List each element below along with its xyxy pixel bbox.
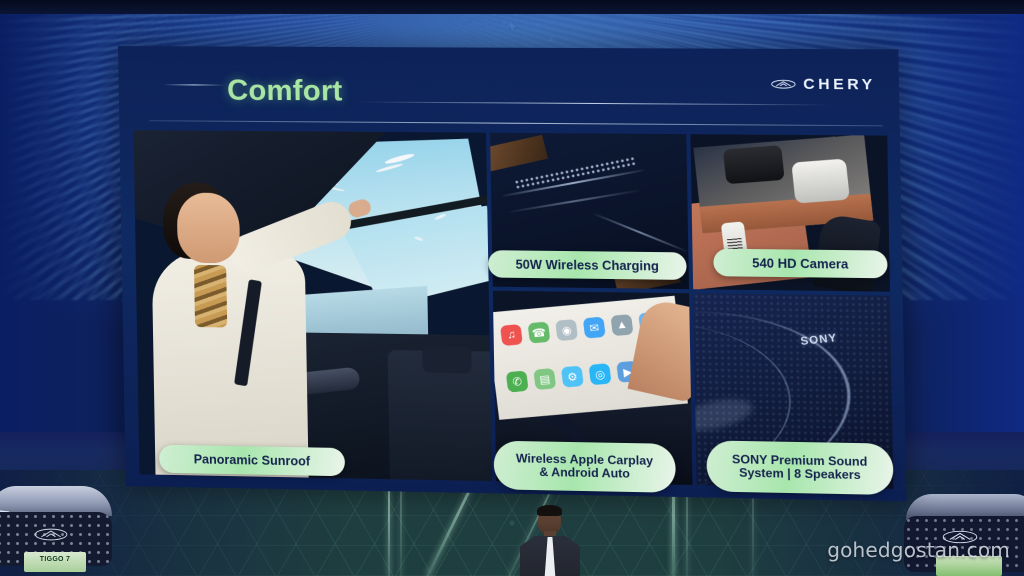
messages-app-icon[interactable]: ✉ [583,317,606,339]
title-rule-right [357,101,832,105]
presenter-on-stage [512,505,586,576]
camera-dark-vehicle [723,145,785,184]
radio-app-icon[interactable]: ◉ [555,319,578,341]
feature-label-text-multiline: SONY Premium Sound System | 8 Speakers [732,453,868,483]
site-watermark: gohedgostan.com [827,538,1010,562]
music-app-icon[interactable]: ♫ [500,324,523,346]
trim-panel [490,135,548,172]
child-face [177,193,241,264]
phone-green-app-icon[interactable]: ☎ [528,322,551,344]
ceiling-truss-bar [0,0,1024,14]
brand-lockup: CHERY [771,75,876,93]
background-left-shade [0,0,120,460]
screenshot-root: TIGGO 7 Comfort CHERY [0,0,1024,576]
feature-label-sony-sound-system: SONY Premium Sound System | 8 Speakers [706,440,893,495]
feature-label-line2: System | 8 Speakers [739,465,861,482]
feature-label-text: Panoramic Sunroof [194,452,311,468]
brand-name: CHERY [803,76,876,94]
feature-label-text: 50W Wireless Charging [515,257,659,273]
feature-label-line2: & Android Auto [539,465,630,481]
child-scarf [194,265,227,328]
chery-oval-emblem-icon [771,77,796,90]
feature-label-wireless-charging: 50W Wireless Charging [488,250,687,280]
settings-app-icon[interactable]: ⚙ [561,366,584,388]
camera-app-icon[interactable]: ◎ [589,363,612,385]
feature-label-text-multiline: Wireless Apple Carplay & Android Auto [516,452,654,482]
feature-image-grid: ♫☎◉✉▲☰ ✆▤⚙◎▶⊞ SONY 50W Wireless Charging… [133,130,893,489]
presenter-hair [537,505,562,516]
console-highlight [594,213,688,252]
feature-label-540-hd-camera: 540 HD Camera [713,249,887,279]
seat-headrest [422,346,472,373]
feature-label-text: 540 HD Camera [752,256,848,271]
navigation-app-icon[interactable]: ▲ [610,314,633,336]
feature-image-panoramic-sunroof [133,130,492,481]
files-app-icon[interactable]: ▤ [533,368,556,390]
presenter-jacket [520,536,580,576]
dialer-app-icon[interactable]: ✆ [506,370,529,392]
slide-header: Comfort CHERY [118,46,900,130]
title-rule-left [163,84,225,85]
chery-emblem-icon [34,528,68,541]
presentation-screen: Comfort CHERY [118,46,906,501]
feature-label-panoramic-sunroof: Panoramic Sunroof [159,445,345,477]
child-body [152,250,309,477]
header-divider [149,120,883,126]
stage-vehicle-right [900,494,1024,576]
camera-white-vehicle [791,159,850,204]
console-highlight [509,190,639,213]
page-title: Comfort [227,75,343,109]
stage-vehicle-left: TIGGO 7 [0,486,120,576]
feature-label-carplay-android-auto: Wireless Apple Carplay & Android Auto [493,441,676,493]
vehicle-plate-text: TIGGO 7 [26,556,84,563]
